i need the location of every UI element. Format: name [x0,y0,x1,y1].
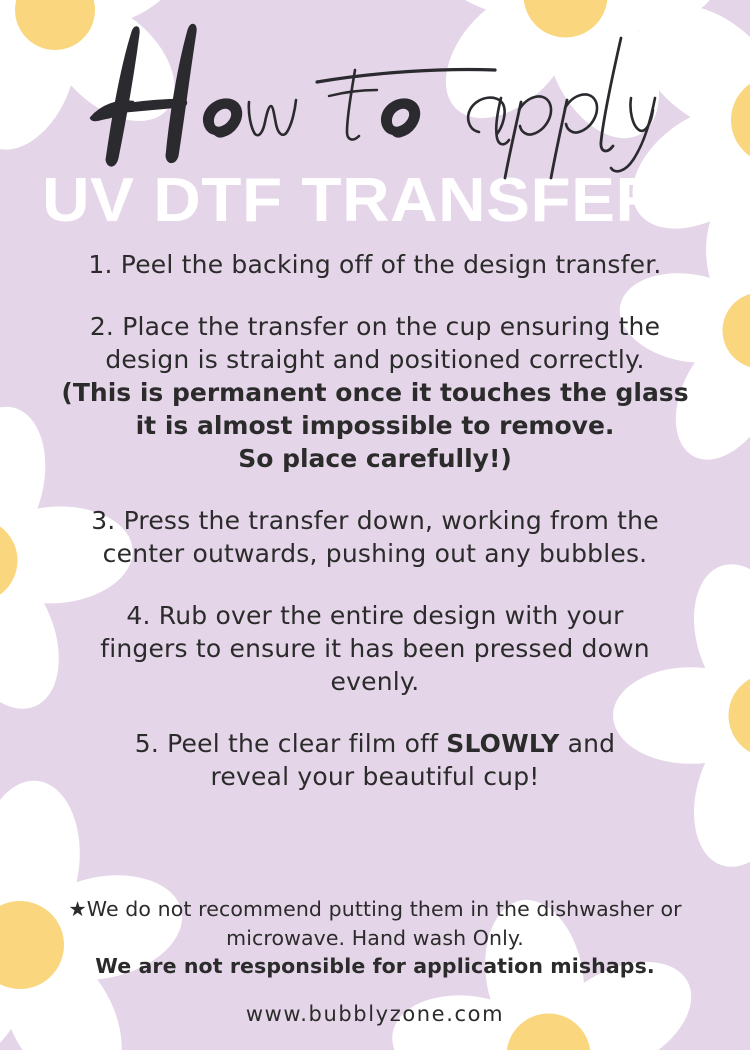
step-5: 5. Peel the clear film off SLOWLY andrev… [24,727,726,793]
script-title-artwork [55,10,695,180]
poster-canvas: UV DTF TRANSFERS 1. Peel the backing off… [0,0,750,1050]
step-5-emphasis: SLOWLY [446,729,559,758]
step-3: 3. Press the transfer down, working from… [24,504,726,570]
step-1-line-1: 1. Peel the backing off of the design tr… [88,250,661,279]
step-4-line-2: fingers to ensure it has been pressed do… [100,634,650,663]
step-5-prefix: 5. Peel the clear film off [135,729,446,758]
step-5-line-after-1: reveal your beautiful cup! [210,762,539,791]
step-2-line-2: design is straight and positioned correc… [105,345,644,374]
step-3-line-1: 3. Press the transfer down, working from… [91,506,659,535]
step-4-line-3: evenly. [331,667,420,696]
step-2: 2. Place the transfer on the cup ensurin… [24,310,726,475]
disclaimer-line-2: microwave. Hand wash Only. [30,924,720,953]
step-2-note-1: (This is permanent once it touches the g… [24,376,726,409]
disclaimer-line-1: ★We do not recommend putting them in the… [30,895,720,924]
website-url: www.bubblyzone.com [0,1002,750,1026]
instruction-steps: 1. Peel the backing off of the design tr… [24,248,726,793]
step-2-line-1: 2. Place the transfer on the cup ensurin… [90,312,660,341]
step-1: 1. Peel the backing off of the design tr… [24,248,726,281]
step-2-note-2: it is almost impossible to remove. [24,409,726,442]
disclaimer: ★We do not recommend putting them in the… [30,895,720,981]
step-4-line-1: 4. Rub over the entire design with your [126,601,623,630]
step-5-suffix: and [559,729,615,758]
script-title [0,10,750,180]
step-2-note-3: So place carefully!) [24,442,726,475]
disclaimer-line-3: We are not responsible for application m… [30,952,720,981]
step-4: 4. Rub over the entire design with yourf… [24,599,726,698]
step-3-line-2: center outwards, pushing out any bubbles… [103,539,648,568]
